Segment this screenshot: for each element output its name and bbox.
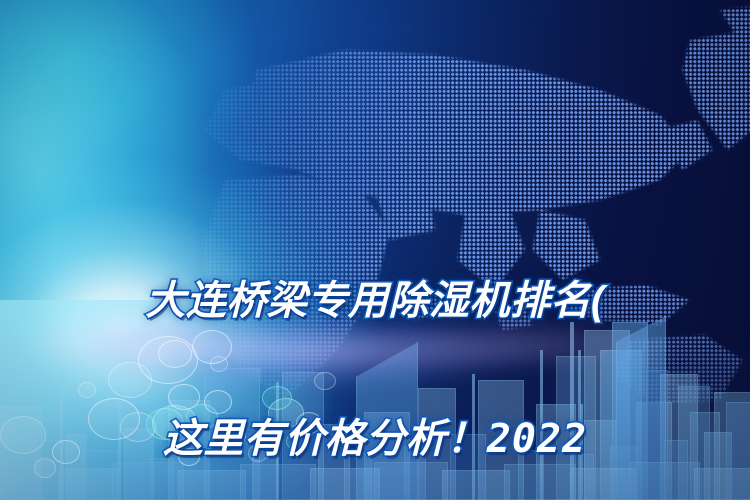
- page-title: 大连桥梁专用除湿机排名( 这里有价格分析！2022 已更新): [0, 186, 750, 500]
- headline-year: 2022: [487, 416, 587, 462]
- headline-line-1: 大连桥梁专用除湿机排名(: [0, 278, 750, 324]
- headline-line-2-prefix: 这里有价格分析！: [163, 417, 487, 461]
- promo-banner: 大连桥梁专用除湿机排名( 这里有价格分析！2022 已更新): [0, 0, 750, 500]
- headline-line-2: 这里有价格分析！2022: [0, 416, 750, 462]
